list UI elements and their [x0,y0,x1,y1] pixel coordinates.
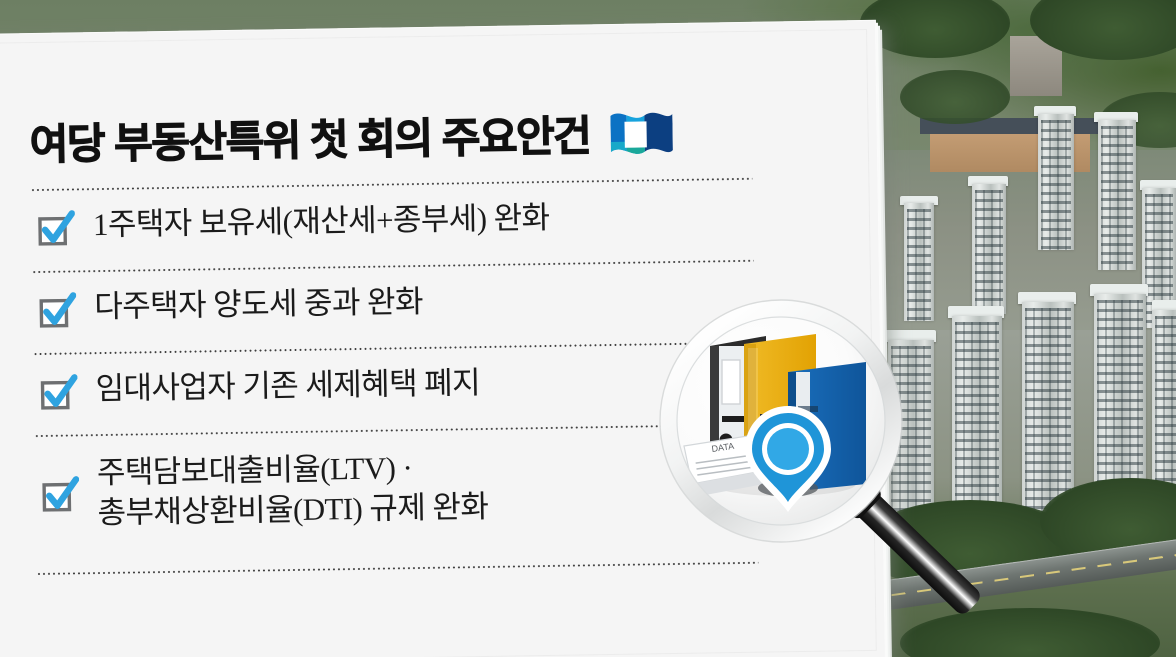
apartment-tower [952,316,1002,516]
checkbox-checked-icon [36,290,77,331]
agenda-item: 임대사업자 기존 세제혜택 폐지 [33,343,774,435]
agenda-item-text: 1주택자 보유세(재산세+종부세) 완화 [93,197,550,245]
agenda-item-text: 임대사업자 기존 세제혜택 폐지 [95,362,480,409]
apartment-tower [1038,114,1074,250]
agenda-item: 주택담보대출비율(LTV) · 총부채상환비율(DTI) 규제 완화 [34,425,776,551]
apartment-tower [904,203,934,321]
agenda-item-line-1: 다주택자 양도세 중과 완화 [94,284,423,324]
agenda-item-line-1: 1주택자 보유세(재산세+종부세) 완화 [93,200,550,242]
apartment-tower [1098,120,1136,270]
apartment-tower [972,184,1006,314]
apartment-tower [1022,302,1074,514]
apartment-tower [888,340,934,520]
page-title: 여당 부동산특위 첫 회의 주요안건 [29,113,590,168]
korean-flag-wave-icon [604,105,677,166]
checkbox-checked-icon [37,372,78,413]
paper-card: 여당 부동산특위 첫 회의 주요안건 [0,20,892,657]
infographic-canvas: 여당 부동산특위 첫 회의 주요안건 [0,0,1176,657]
agenda-item-line-1: 주택담보대출비율(LTV) · [97,447,488,493]
agenda-item-line-1: 임대사업자 기존 세제혜택 폐지 [95,365,480,406]
checkbox-checked-icon [35,208,76,249]
agenda-item: 1주택자 보유세(재산세+종부세) 완화 [30,179,771,271]
agenda-item-text: 주택담보대출비율(LTV) · 총부채상환비율(DTI) 규제 완화 [97,446,489,532]
checkbox-checked-icon [39,474,80,515]
agenda-item-text: 다주택자 양도세 중과 완화 [94,281,423,327]
agenda-item-line-2: 총부채상환비율(DTI) 규제 완화 [97,487,488,533]
card-content: 여당 부동산특위 첫 회의 주요안건 [29,103,776,575]
agenda-item: 다주택자 양도세 중과 완화 [32,261,773,353]
tree-cluster [900,70,1010,124]
title-row: 여당 부동산특위 첫 회의 주요안건 [29,103,770,175]
